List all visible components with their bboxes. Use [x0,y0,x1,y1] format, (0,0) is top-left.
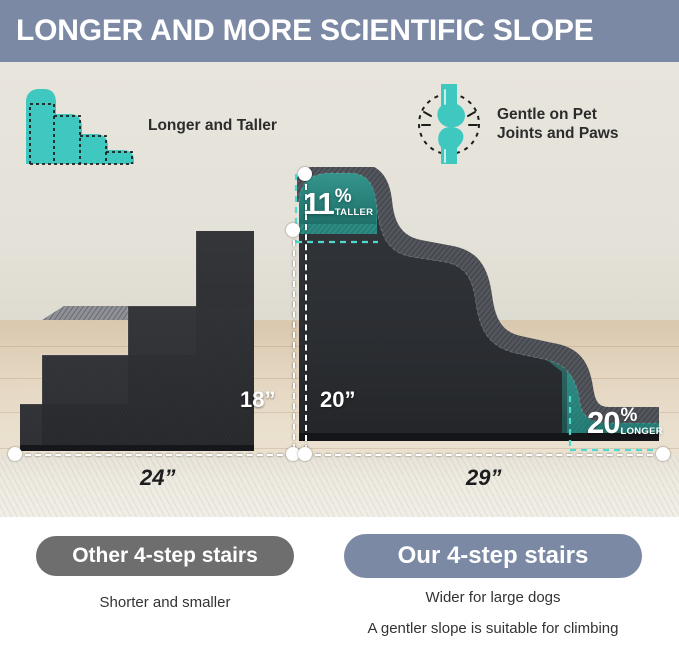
badge-taller-word: TALLER [335,207,374,218]
feature-longer-taller-label: Longer and Taller [148,116,277,135]
badge-longer: 20 % LONGER [587,407,663,437]
dim-line-other-width [15,454,293,456]
badge-longer-percent: % [620,407,637,424]
dim-label-other-height: 18” [240,387,275,413]
feature-gentle-joints-label: Gentle on Pet Joints and Paws [497,105,618,144]
pet-joint-icon [411,84,487,164]
pill-our-stairs[interactable]: Our 4-step stairs [344,534,642,578]
dim-label-our-height: 20” [320,387,355,413]
caption-other-stairs: Shorter and smaller [36,594,294,611]
badge-taller-percent: % [335,188,352,205]
dim-dot-our-left [298,447,312,461]
header-banner: LONGER AND MORE SCIENTIFIC SLOPE [0,0,679,62]
pill-other-stairs[interactable]: Other 4-step stairs [36,536,294,576]
dim-label-our-width: 29” [466,465,501,491]
rug-texture [0,455,679,517]
dim-dot-other-top [286,223,300,237]
dim-dot-our-right [656,447,670,461]
badge-longer-word: LONGER [620,426,662,437]
infographic-page: LONGER AND MORE SCIENTIFIC SLOPE [0,0,679,657]
badge-longer-number: 20 [587,409,619,438]
page-title: LONGER AND MORE SCIENTIFIC SLOPE [0,14,594,48]
stairs-icon [22,86,138,166]
badge-taller: 11 % TALLER [303,188,373,218]
scene-rug [0,455,679,517]
dim-line-other-height [293,230,295,450]
feature-gentle-joints: Gentle on Pet Joints and Paws [411,84,618,164]
caption-our-stairs-1: Wider for large dogs [330,589,656,606]
caption-our-stairs-2: A gentler slope is suitable for climbing [317,620,669,637]
dim-line-our-width [305,454,663,456]
dim-label-other-width: 24” [140,465,175,491]
other-stairs-product [10,222,295,454]
comparison-footer: Other 4-step stairs Our 4-step stairs Sh… [0,517,679,657]
dim-dot-other-left [8,447,22,461]
feature-longer-taller: Longer and Taller [22,86,277,166]
dim-dot-our-top [298,167,312,181]
product-comparison-scene: 18” 20” 24” 29” 11 % TALLER [0,62,679,517]
badge-taller-number: 11 [303,190,334,219]
